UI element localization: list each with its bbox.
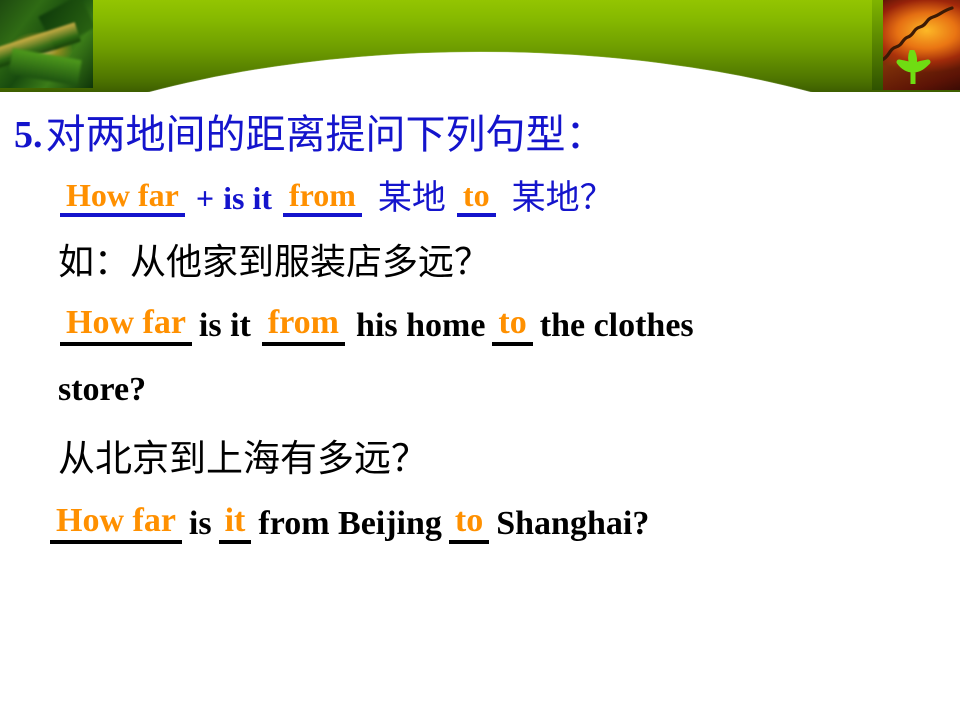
token-to: to [449,504,489,544]
line-4-answer-english: How far is it from his home to the cloth… [58,295,960,357]
line-6-chinese-text: 从北京到上海有多远？ [58,440,428,477]
token-is-it: is it [199,309,251,343]
right-corner-green-strip [872,0,883,90]
line-1-heading: 5. 对两地间的距离提问下列句型： [14,104,960,166]
line-2-pattern: How far + is it from 某地 to 某地 ？ [58,166,960,230]
line-6-example-chinese: 从北京到上海有多远？ [58,423,960,493]
token-from: from [283,179,362,217]
right-corner-photo [872,0,960,90]
token-how-far: How far [60,179,185,217]
token-how-far: How far [50,504,182,544]
token-is-it: is it [223,182,272,214]
line-3-example-chinese: 如：从他家到服装店多远？ [58,230,960,295]
token-to: to [492,306,532,346]
green-plant-icon [896,50,932,84]
token-from: from [262,306,345,346]
token-store: store? [58,373,146,407]
slide-header-banner [0,0,960,100]
line-1-number: 5. [14,116,43,154]
left-corner-photo [0,0,93,88]
line-5-answer-continued: store? [58,357,960,423]
line-3-chinese-text: 如：从他家到服装店多远？ [58,245,490,281]
token-place-2: 某地 [512,181,580,215]
token-plus: + [196,182,214,214]
token-it: it [219,504,252,544]
line-7-answer-english: How far is it from Beijing to Shanghai? [48,493,960,555]
token-how-far: How far [60,306,192,346]
token-is: is [189,507,212,541]
token-the-clothes: the clothes [540,309,694,343]
token-question-mark: ？ [580,181,614,215]
line-1-chinese-text: 对两地间的距离提问下列句型： [46,115,606,155]
token-from-beijing: from Beijing [258,507,442,541]
token-place-1: 某地 [378,181,446,215]
token-his-home: his home [356,309,485,343]
token-to: to [457,179,496,217]
token-shanghai: Shanghai? [496,507,649,541]
slide-content: 5. 对两地间的距离提问下列句型： How far + is it from 某… [0,104,960,555]
